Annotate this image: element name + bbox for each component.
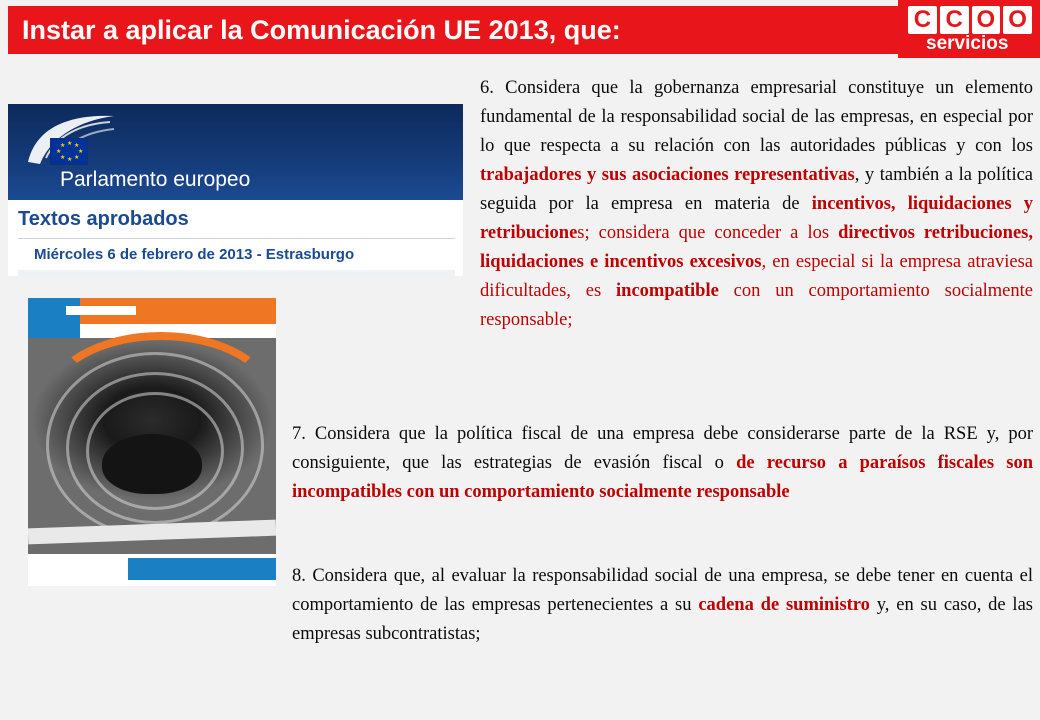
paragraph-6: 6. Considera que la gobernanza empresari… bbox=[480, 74, 1033, 335]
p6-run-4: s; considera que conceder a los bbox=[577, 223, 838, 243]
photo-blue-bottom-band bbox=[128, 558, 276, 580]
ccoo-letters: C C O O bbox=[908, 6, 1032, 34]
photo-white-bar bbox=[66, 306, 136, 315]
parliament-banner-title: Parlamento europeo bbox=[60, 168, 250, 192]
ccoo-tagline: servicios bbox=[926, 33, 1008, 55]
page-title: Instar a aplicar la Comunicación UE 2013… bbox=[8, 15, 621, 46]
parliament-divider bbox=[18, 238, 455, 239]
parliament-date-line: Miércoles 6 de febrero de 2013 - Estrasb… bbox=[34, 246, 354, 263]
ccoo-letter-4: O bbox=[1003, 6, 1032, 34]
eu-flag-icon: ★ ★ ★ ★ ★ ★ ★ ★ bbox=[50, 138, 88, 165]
p8-run-1: cadena de suministro bbox=[698, 595, 870, 615]
paragraph-8: 8. Considera que, al evaluar la responsa… bbox=[292, 562, 1033, 649]
ccoo-logo: C C O O servicios bbox=[898, 0, 1040, 58]
paragraph-7: 7. Considera que la política fiscal de u… bbox=[292, 420, 1033, 507]
ccoo-letter-1: C bbox=[908, 6, 937, 34]
photo-orange-arc bbox=[46, 332, 276, 468]
parliament-header-card: ★ ★ ★ ★ ★ ★ ★ ★ Parlamento europeo Texto… bbox=[8, 104, 463, 276]
hemicycle-photo bbox=[28, 298, 276, 586]
parliament-footer-strip bbox=[18, 270, 455, 278]
p6-run-0: 6. Considera que la gobernanza empresari… bbox=[480, 78, 1033, 156]
ccoo-letter-3: O bbox=[972, 6, 1001, 34]
ccoo-letter-2: C bbox=[940, 6, 969, 34]
slide-title-bar: Instar a aplicar la Comunicación UE 2013… bbox=[8, 6, 898, 54]
p6-run-1: trabajadores y sus asociaciones represen… bbox=[480, 165, 855, 185]
parliament-banner: ★ ★ ★ ★ ★ ★ ★ ★ Parlamento europeo bbox=[8, 104, 463, 200]
parliament-section-title: Textos aprobados bbox=[18, 208, 189, 231]
p6-run-7: incompatible bbox=[616, 281, 719, 301]
photo-lower-band bbox=[28, 520, 276, 545]
